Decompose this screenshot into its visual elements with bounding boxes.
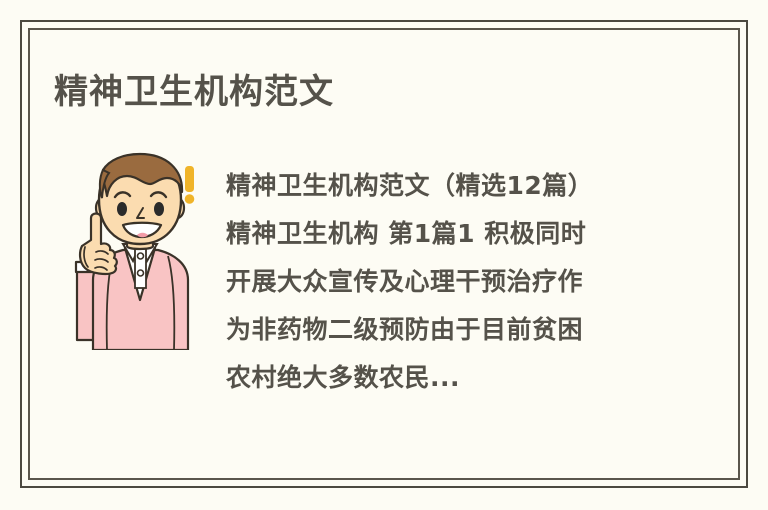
page-title: 精神卫生机构范文	[54, 64, 334, 113]
preview-card: 精神卫生机构范文	[0, 0, 768, 510]
summary-line: 开展大众宣传及心理干预治疗作	[226, 258, 656, 306]
summary-line: 精神卫生机构范文（精选12篇）	[226, 162, 656, 210]
summary-line: 为非药物二级预防由于目前贫困	[226, 306, 656, 354]
exclamation-icon	[185, 166, 195, 204]
summary-line: 精神卫生机构 第1篇1 积极同时	[226, 210, 656, 258]
pointing-man-illustration	[55, 140, 215, 350]
summary-line: 农村绝大多数农民...	[226, 354, 656, 402]
summary-text: 精神卫生机构范文（精选12篇） 精神卫生机构 第1篇1 积极同时 开展大众宣传及…	[226, 162, 656, 402]
